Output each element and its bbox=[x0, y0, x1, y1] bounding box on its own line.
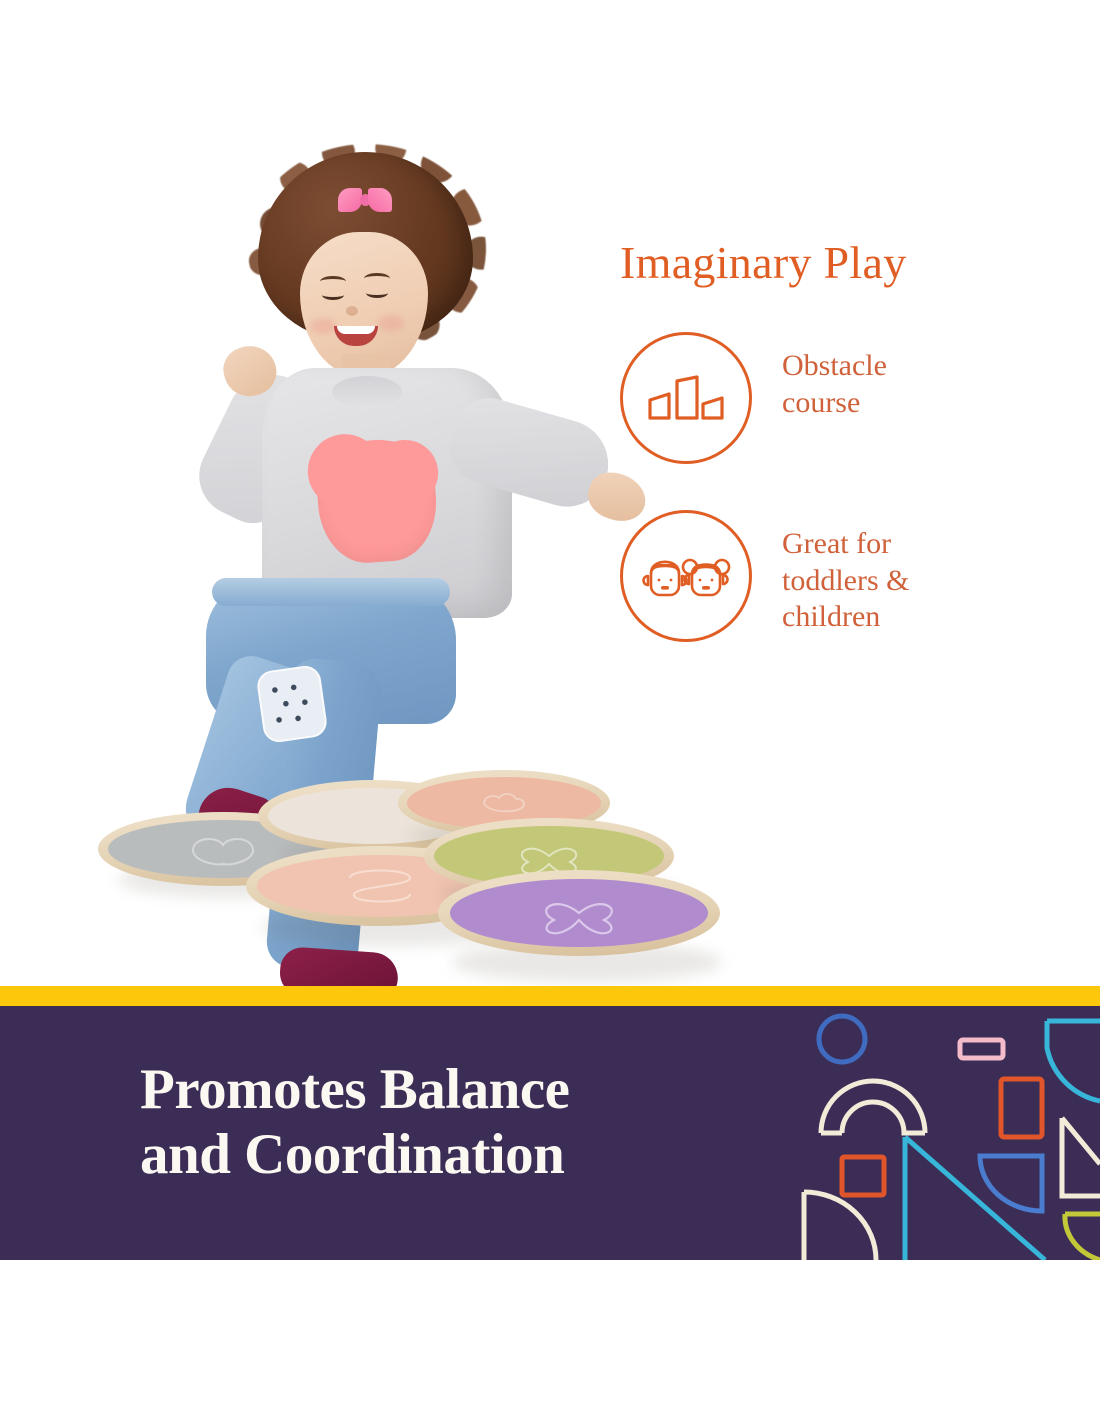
feature-label-great-for-children: Great for toddlers & children bbox=[782, 510, 910, 636]
cream-quarter-circle bbox=[804, 1192, 876, 1260]
headline-banner: Promotes Balance and Coordination bbox=[0, 1006, 1100, 1260]
feature-line-1: Obstacle bbox=[782, 348, 887, 385]
two-children-faces-glyph bbox=[640, 545, 732, 607]
sock-standing-foot bbox=[278, 946, 399, 986]
cheek-right bbox=[378, 315, 404, 331]
banner-headline: Promotes Balance and Coordination bbox=[140, 1058, 760, 1188]
cyan-arc bbox=[1047, 1021, 1100, 1101]
circle-outline bbox=[819, 1016, 865, 1062]
sweater-collar bbox=[332, 376, 402, 408]
banner-headline-line-2: and Coordination bbox=[140, 1123, 760, 1188]
banner-decorative-shapes bbox=[790, 1006, 1100, 1260]
eye-right bbox=[366, 288, 388, 298]
yellow-divider-stripe bbox=[0, 986, 1100, 1006]
feature-line-2: course bbox=[782, 385, 887, 422]
arch-outline bbox=[821, 1081, 925, 1133]
section-title: Imaginary Play bbox=[620, 240, 1060, 286]
obstacle-blocks-glyph bbox=[647, 373, 725, 423]
feature-label-obstacle-course: Obstacle course bbox=[782, 332, 887, 421]
stepping-stone-purple bbox=[438, 870, 720, 956]
olive-arc bbox=[1065, 1214, 1100, 1260]
feature-line-2: toddlers & bbox=[782, 563, 910, 600]
obstacle-blocks-icon bbox=[620, 332, 752, 464]
child-figure bbox=[150, 140, 570, 840]
banner-headline-line-1: Promotes Balance bbox=[140, 1058, 760, 1123]
jeans-waistband bbox=[212, 578, 450, 606]
eyebrow-left bbox=[320, 276, 346, 287]
hair-bow-icon bbox=[338, 188, 392, 212]
eyebrow-right bbox=[364, 273, 390, 284]
feature-column: Imaginary Play Obstacle course bbox=[620, 240, 1060, 642]
blue-quarter-circle bbox=[980, 1156, 1042, 1211]
orange-rectangle-tall bbox=[1001, 1079, 1042, 1137]
pink-rectangle bbox=[960, 1040, 1003, 1058]
product-marketing-image: Imaginary Play Obstacle course bbox=[0, 0, 1100, 1422]
jeans-knee-patch bbox=[255, 664, 328, 744]
eye-left bbox=[322, 290, 344, 300]
feature-item-great-for-children: Great for toddlers & children bbox=[620, 510, 1060, 642]
geometric-shapes-graphic bbox=[790, 1006, 1100, 1260]
feature-line-1: Great for bbox=[782, 526, 910, 563]
cheek-left bbox=[310, 318, 336, 334]
feature-line-3: children bbox=[782, 599, 910, 636]
nose bbox=[346, 306, 358, 316]
feature-item-obstacle-course: Obstacle course bbox=[620, 332, 1060, 464]
orange-square bbox=[842, 1157, 884, 1195]
two-children-faces-icon bbox=[620, 510, 752, 642]
bottom-whitespace bbox=[0, 1260, 1100, 1422]
cream-sail bbox=[1062, 1118, 1100, 1196]
pinwheel-glyph-icon bbox=[438, 870, 720, 956]
